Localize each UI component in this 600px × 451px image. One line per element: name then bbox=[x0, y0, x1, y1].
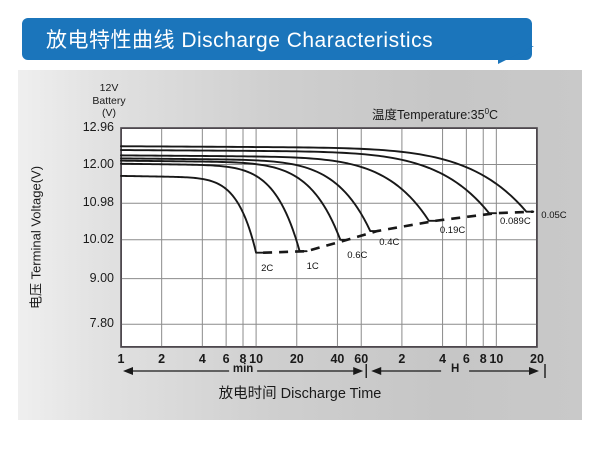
curve-label-0p089C: 0.089C bbox=[500, 216, 531, 227]
x-tick-hour-10: 10 bbox=[481, 352, 511, 366]
curve-2C bbox=[121, 176, 263, 253]
x-range-label-hours: H bbox=[440, 363, 470, 375]
curve-label-0p19C: 0.19C bbox=[440, 225, 465, 236]
x-tick-min-2: 2 bbox=[147, 352, 177, 366]
discharge-characteristics-page: 放电特性曲线 Discharge Characteristics 12V Bat… bbox=[0, 0, 600, 451]
x-tick-min-20: 20 bbox=[282, 352, 312, 366]
discharge-curves bbox=[121, 146, 533, 252]
x-tick-min-60: 60 bbox=[346, 352, 376, 366]
axis-range-arrows bbox=[123, 364, 545, 378]
curve-label-0p4C: 0.4C bbox=[379, 237, 399, 248]
y-tick-9p00: 9.00 bbox=[52, 271, 114, 285]
x-tick-hour-2: 2 bbox=[387, 352, 417, 366]
y-tick-12p00: 12.00 bbox=[52, 157, 114, 171]
curve-label-0p05C: 0.05C bbox=[541, 210, 566, 221]
curve-label-1C: 1C bbox=[307, 261, 319, 272]
x-tick-hour-20: 20 bbox=[522, 352, 552, 366]
curve-0p6C bbox=[121, 161, 347, 240]
curve-0p4C bbox=[121, 158, 377, 231]
curve-label-2C: 2C bbox=[261, 263, 273, 274]
y-tick-7p80: 7.80 bbox=[52, 316, 114, 330]
curve-label-0p6C: 0.6C bbox=[347, 250, 367, 261]
x-tick-min-1: 1 bbox=[106, 352, 136, 366]
x-range-label-minutes: min bbox=[228, 363, 258, 375]
y-tick-10p98: 10.98 bbox=[52, 195, 114, 209]
y-tick-12p96: 12.96 bbox=[52, 120, 114, 134]
y-tick-10p02: 10.02 bbox=[52, 232, 114, 246]
